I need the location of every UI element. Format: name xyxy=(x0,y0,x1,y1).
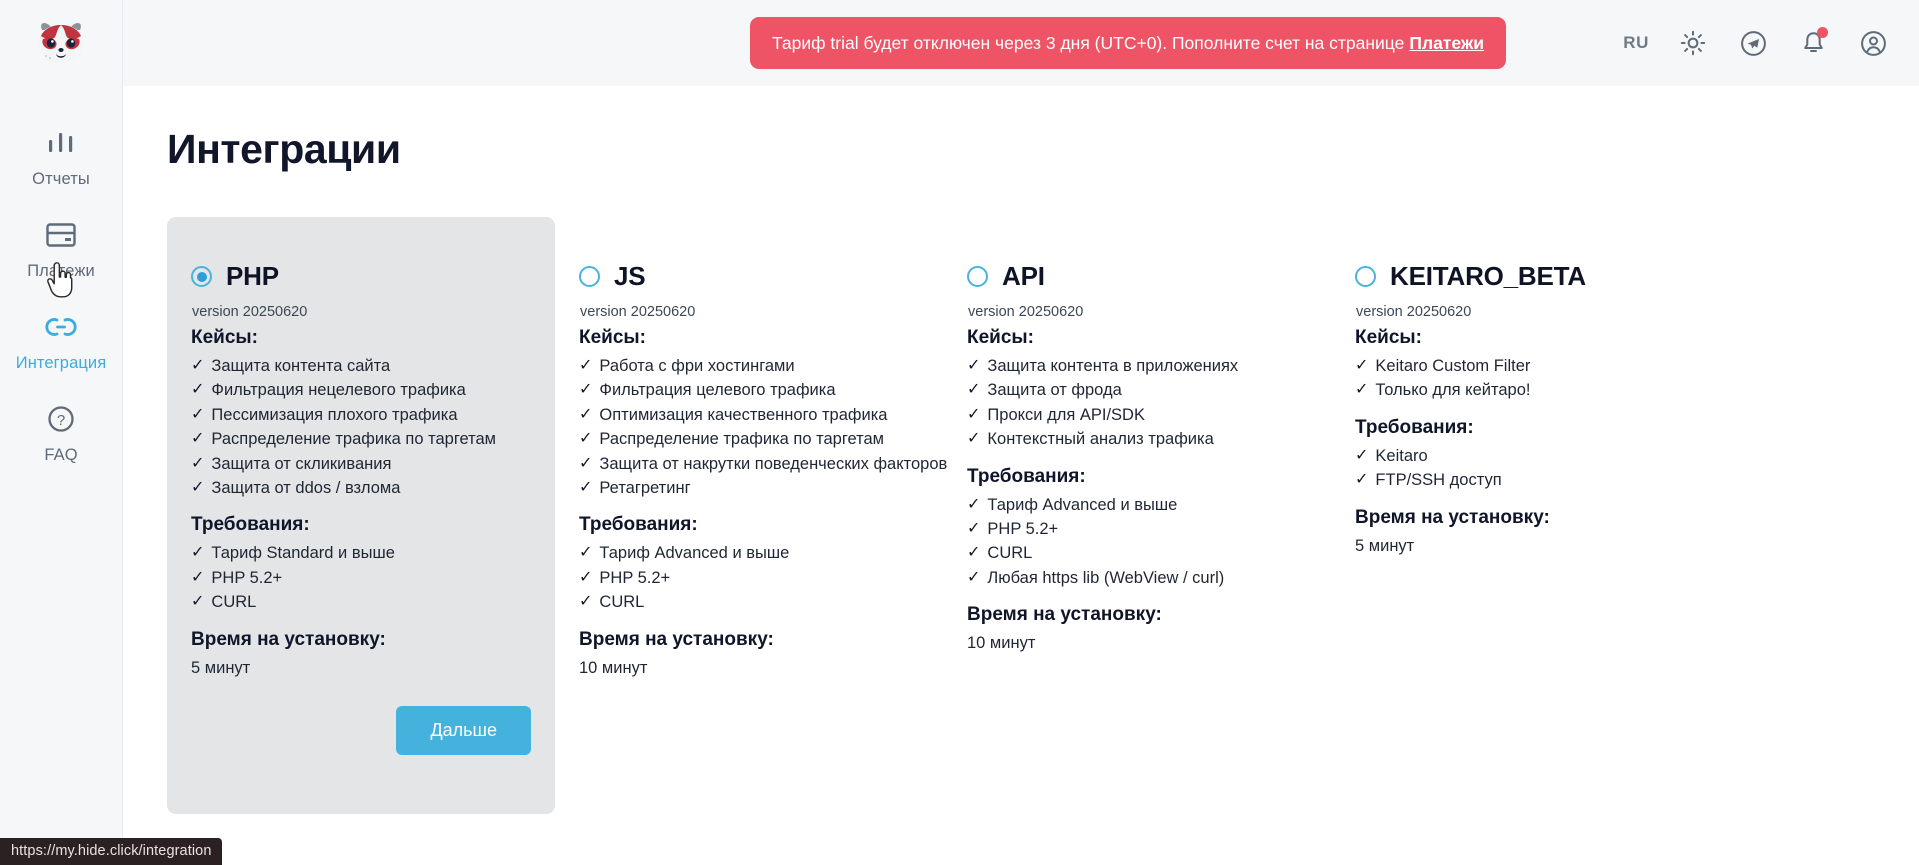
sidebar-item-reports[interactable]: Отчеты xyxy=(0,122,122,214)
content-area: Тариф trial будет отключен через 3 дня (… xyxy=(123,0,1919,865)
requirement-item: ✓PHP 5.2+ xyxy=(967,517,1307,541)
check-icon: ✓ xyxy=(191,566,204,590)
case-item-label: Прокси для API/SDK xyxy=(987,403,1145,427)
case-item-label: Фильтрация нецелевого трафика xyxy=(211,378,465,402)
install-time-heading: Время на установку: xyxy=(191,629,531,651)
telegram-icon[interactable] xyxy=(1737,27,1769,59)
sidebar-item-faq[interactable]: ? FAQ xyxy=(0,398,122,490)
requirement-item-label: PHP 5.2+ xyxy=(987,517,1058,541)
case-item: ✓Фильтрация целевого трафика xyxy=(579,378,919,402)
card-header: KEITARO_BETA xyxy=(1355,261,1695,292)
radio-php-checked[interactable] xyxy=(191,266,212,287)
cases-heading: Кейсы: xyxy=(579,327,919,349)
case-item-label: Фильтрация целевого трафика xyxy=(599,378,835,402)
case-item: ✓Защита контента сайта xyxy=(191,354,531,378)
install-time-heading: Время на установку: xyxy=(1355,507,1695,529)
check-icon: ✓ xyxy=(191,452,204,476)
requirement-item: ✓FTP/SSH доступ xyxy=(1355,468,1695,492)
check-icon: ✓ xyxy=(579,590,592,614)
requirement-item: ✓CURL xyxy=(967,541,1307,565)
trial-alert-payments-link[interactable]: Платежи xyxy=(1409,33,1484,54)
radio-js-unchecked[interactable] xyxy=(579,266,600,287)
check-icon: ✓ xyxy=(579,427,592,451)
check-icon: ✓ xyxy=(1355,378,1368,402)
radio-dot xyxy=(197,272,207,282)
check-icon: ✓ xyxy=(579,452,592,476)
requirement-item-label: CURL xyxy=(211,590,256,614)
raccoon-logo-icon xyxy=(32,19,90,67)
main-panel: Интеграции PHPversion 20250620Кейсы:✓Защ… xyxy=(123,86,1919,865)
install-time-value: 10 минут xyxy=(579,656,919,680)
check-icon: ✓ xyxy=(191,476,204,500)
requirement-item-label: Тариф Standard и выше xyxy=(211,541,394,565)
check-icon: ✓ xyxy=(967,541,980,565)
trial-alert-text: Тариф trial будет отключен через 3 дня (… xyxy=(772,33,1404,54)
requirement-item-label: Тариф Advanced и выше xyxy=(599,541,789,565)
header-actions: RU xyxy=(1623,27,1889,59)
card-title: KEITARO_BETA xyxy=(1390,261,1586,292)
check-icon: ✓ xyxy=(191,590,204,614)
case-item-label: Распределение трафика по таргетам xyxy=(599,427,884,451)
case-item: ✓Keitaro Custom Filter xyxy=(1355,354,1695,378)
sidebar-item-payments-label: Платежи xyxy=(27,262,95,281)
requirement-item-label: FTP/SSH доступ xyxy=(1375,468,1501,492)
card-actions: Дальше xyxy=(191,706,531,755)
case-item: ✓Распределение трафика по таргетам xyxy=(579,427,919,451)
case-item-label: Защита от ddos / взлома xyxy=(211,476,400,500)
sidebar-item-integration[interactable]: Интеграция xyxy=(0,306,122,398)
credit-card-icon xyxy=(43,214,79,256)
card-header: PHP xyxy=(191,261,531,292)
sidebar: Отчеты Платежи xyxy=(0,0,123,865)
integration-card-keitaro-beta[interactable]: KEITARO_BETAversion 20250620Кейсы:✓Keita… xyxy=(1331,217,1719,586)
cases-heading: Кейсы: xyxy=(191,327,531,349)
card-title: PHP xyxy=(226,261,279,292)
integration-card-api[interactable]: APIversion 20250620Кейсы:✓Защита контент… xyxy=(943,217,1331,684)
case-item: ✓Распределение трафика по таргетам xyxy=(191,427,531,451)
install-time-value: 10 минут xyxy=(967,631,1307,655)
case-item-label: Защита от накрутки поведенческих факторо… xyxy=(599,452,947,476)
case-item-label: Ретагретинг xyxy=(599,476,690,500)
card-version: version 20250620 xyxy=(968,304,1307,320)
svg-text:?: ? xyxy=(57,412,65,429)
case-item: ✓Защита контента в приложениях xyxy=(967,354,1307,378)
case-item: ✓Защита от фрода xyxy=(967,378,1307,402)
sidebar-item-reports-label: Отчеты xyxy=(32,170,90,189)
question-circle-icon: ? xyxy=(44,398,78,440)
check-icon: ✓ xyxy=(191,541,204,565)
case-item-label: Оптимизация качественного трафика xyxy=(599,403,887,427)
integration-card-php[interactable]: PHPversion 20250620Кейсы:✓Защита контент… xyxy=(167,217,555,814)
requirements-heading: Требования: xyxy=(191,514,531,536)
user-circle-icon[interactable] xyxy=(1857,27,1889,59)
notification-badge xyxy=(1817,27,1828,38)
page-title: Интеграции xyxy=(167,126,1919,173)
check-icon: ✓ xyxy=(579,403,592,427)
integration-cards-list: PHPversion 20250620Кейсы:✓Защита контент… xyxy=(167,217,1919,814)
case-item-label: Пессимизация плохого трафика xyxy=(211,403,457,427)
case-item: ✓Ретагретинг xyxy=(579,476,919,500)
requirement-item: ✓Любая https lib (WebView / curl) xyxy=(967,566,1307,590)
check-icon: ✓ xyxy=(967,403,980,427)
check-icon: ✓ xyxy=(191,378,204,402)
requirement-item: ✓CURL xyxy=(191,590,531,614)
case-item-label: Защита от фрода xyxy=(987,378,1121,402)
sun-icon[interactable] xyxy=(1677,27,1709,59)
requirement-item-label: Keitaro xyxy=(1375,444,1427,468)
check-icon: ✓ xyxy=(967,354,980,378)
case-item-label: Контекстный анализ трафика xyxy=(987,427,1213,451)
case-item: ✓Защита от накрутки поведенческих фактор… xyxy=(579,452,919,476)
language-switcher[interactable]: RU xyxy=(1623,33,1649,53)
check-icon: ✓ xyxy=(579,541,592,565)
trial-alert-banner: Тариф trial будет отключен через 3 дня (… xyxy=(750,17,1506,69)
check-icon: ✓ xyxy=(967,566,980,590)
requirement-item-label: Любая https lib (WebView / curl) xyxy=(987,566,1224,590)
case-item: ✓Работа с фри хостингами xyxy=(579,354,919,378)
requirement-item: ✓Тариф Standard и выше xyxy=(191,541,531,565)
cases-heading: Кейсы: xyxy=(967,327,1307,349)
check-icon: ✓ xyxy=(191,403,204,427)
card-version: version 20250620 xyxy=(192,304,531,320)
radio-keitaro-beta-unchecked[interactable] xyxy=(1355,266,1376,287)
radio-api-unchecked[interactable] xyxy=(967,266,988,287)
requirement-item: ✓Тариф Advanced и выше xyxy=(579,541,919,565)
check-icon: ✓ xyxy=(191,354,204,378)
install-time-heading: Время на установку: xyxy=(967,604,1307,626)
requirement-item: ✓Тариф Advanced и выше xyxy=(967,493,1307,517)
app-logo[interactable] xyxy=(0,0,123,86)
check-icon: ✓ xyxy=(579,476,592,500)
requirement-item-label: CURL xyxy=(599,590,644,614)
sidebar-nav: Отчеты Платежи xyxy=(0,122,122,490)
requirement-item-label: CURL xyxy=(987,541,1032,565)
check-icon: ✓ xyxy=(967,427,980,451)
check-icon: ✓ xyxy=(1355,354,1368,378)
bell-icon[interactable] xyxy=(1797,27,1829,59)
case-item: ✓Прокси для API/SDK xyxy=(967,403,1307,427)
case-item-label: Keitaro Custom Filter xyxy=(1375,354,1530,378)
check-icon: ✓ xyxy=(579,566,592,590)
requirements-heading: Требования: xyxy=(1355,417,1695,439)
requirements-heading: Требования: xyxy=(967,466,1307,488)
app-root: Отчеты Платежи xyxy=(0,0,1919,865)
check-icon: ✓ xyxy=(967,517,980,541)
install-time-value: 5 минут xyxy=(191,656,531,680)
sidebar-item-faq-label: FAQ xyxy=(44,446,77,465)
case-item: ✓Фильтрация нецелевого трафика xyxy=(191,378,531,402)
case-item: ✓Защита от скликивания xyxy=(191,452,531,476)
case-item-label: Защита контента сайта xyxy=(211,354,390,378)
case-item-label: Защита контента в приложениях xyxy=(987,354,1238,378)
case-item: ✓Пессимизация плохого трафика xyxy=(191,403,531,427)
install-time-heading: Время на установку: xyxy=(579,629,919,651)
case-item-label: Распределение трафика по таргетам xyxy=(211,427,496,451)
case-item-label: Работа с фри хостингами xyxy=(599,354,794,378)
case-item-label: Только для кейтаро! xyxy=(1375,378,1530,402)
requirement-item: ✓CURL xyxy=(579,590,919,614)
requirement-item: ✓PHP 5.2+ xyxy=(579,566,919,590)
card-title: JS xyxy=(614,261,645,292)
case-item: ✓Только для кейтаро! xyxy=(1355,378,1695,402)
check-icon: ✓ xyxy=(1355,468,1368,492)
check-icon: ✓ xyxy=(191,427,204,451)
requirements-heading: Требования: xyxy=(579,514,919,536)
case-item: ✓Защита от ddos / взлома xyxy=(191,476,531,500)
requirement-item: ✓Keitaro xyxy=(1355,444,1695,468)
requirement-item: ✓PHP 5.2+ xyxy=(191,566,531,590)
check-icon: ✓ xyxy=(967,493,980,517)
card-header: API xyxy=(967,261,1307,292)
integration-card-js[interactable]: JSversion 20250620Кейсы:✓Работа с фри хо… xyxy=(555,217,943,708)
bar-chart-icon xyxy=(44,122,78,164)
card-header: JS xyxy=(579,261,919,292)
top-header: Тариф trial будет отключен через 3 дня (… xyxy=(123,0,1919,86)
requirement-item-label: PHP 5.2+ xyxy=(599,566,670,590)
case-item: ✓Оптимизация качественного трафика xyxy=(579,403,919,427)
card-version: version 20250620 xyxy=(580,304,919,320)
requirement-item-label: PHP 5.2+ xyxy=(211,566,282,590)
card-version: version 20250620 xyxy=(1356,304,1695,320)
install-time-value: 5 минут xyxy=(1355,534,1695,558)
card-title: API xyxy=(1002,261,1045,292)
check-icon: ✓ xyxy=(579,378,592,402)
check-icon: ✓ xyxy=(967,378,980,402)
cases-heading: Кейсы: xyxy=(1355,327,1695,349)
check-icon: ✓ xyxy=(579,354,592,378)
case-item-label: Защита от скликивания xyxy=(211,452,391,476)
requirement-item-label: Тариф Advanced и выше xyxy=(987,493,1177,517)
sidebar-item-integration-label: Интеграция xyxy=(16,354,107,373)
link-chain-icon xyxy=(43,306,79,348)
sidebar-item-payments[interactable]: Платежи xyxy=(0,214,122,306)
status-bar-url: https://my.hide.click/integration xyxy=(0,838,222,865)
check-icon: ✓ xyxy=(1355,444,1368,468)
next-button[interactable]: Дальше xyxy=(396,706,531,755)
case-item: ✓Контекстный анализ трафика xyxy=(967,427,1307,451)
